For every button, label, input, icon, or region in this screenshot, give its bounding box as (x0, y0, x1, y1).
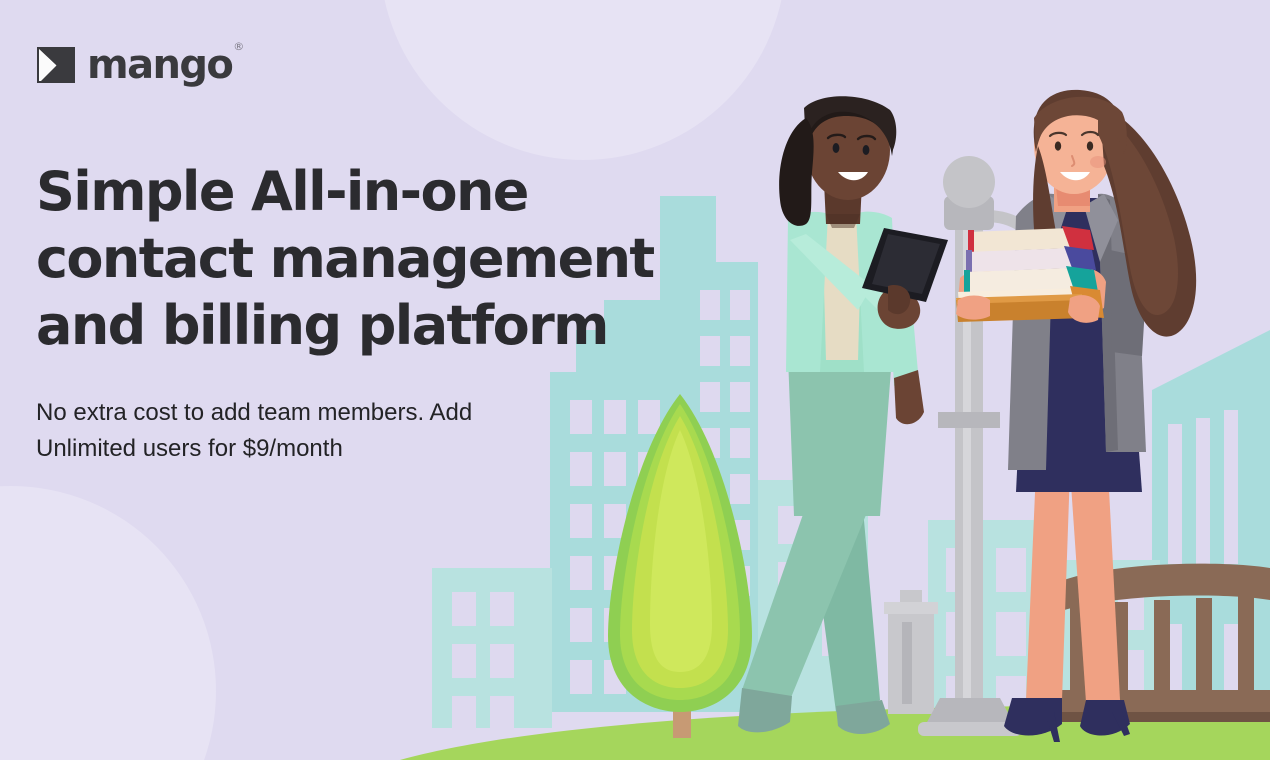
brand-wordmark: mango® (87, 45, 232, 85)
hero-subtitle: No extra cost to add team members. Add U… (36, 395, 536, 467)
page-title: Simple All-in-one contact management and… (36, 158, 676, 359)
mango-triangle-mark-icon (36, 44, 78, 86)
registered-trademark-symbol: ® (233, 41, 244, 52)
hero-banner: mango® Simple All-in-one contact managem… (0, 0, 1270, 760)
hero-illustration (0, 0, 1270, 760)
trash-can (884, 590, 938, 714)
brand-name-text: mango (87, 42, 232, 88)
brand-logo[interactable]: mango® (36, 44, 232, 86)
